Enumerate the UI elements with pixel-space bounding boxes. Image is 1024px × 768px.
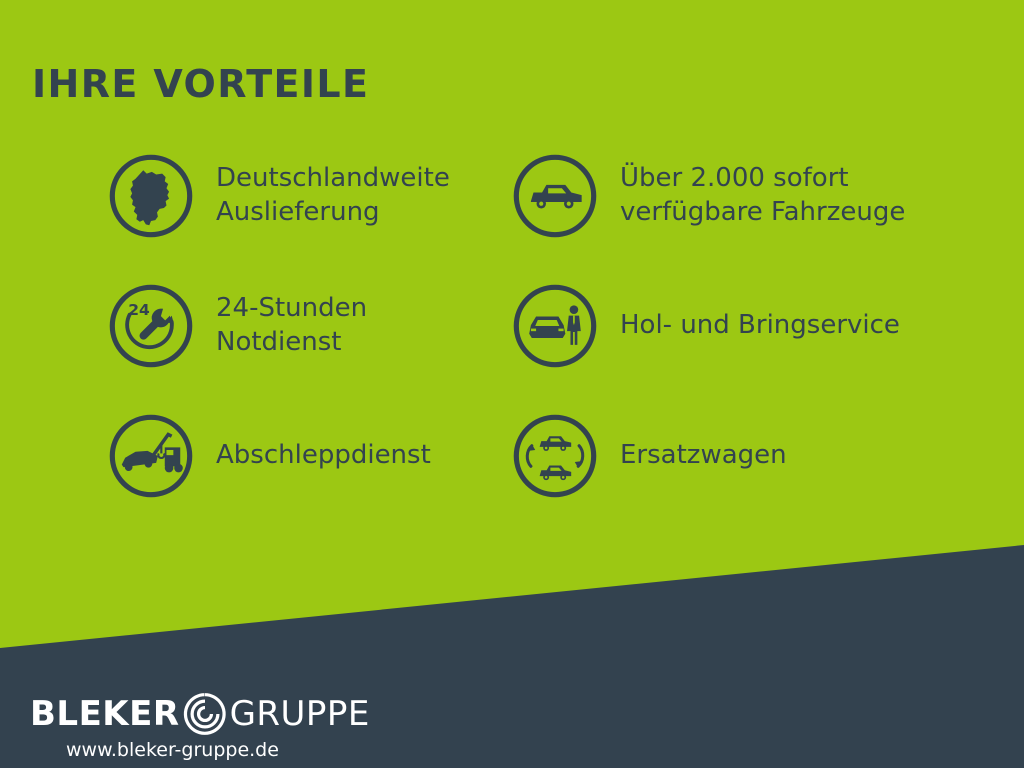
feature-item: Hol- und Bringservice xyxy=(512,280,900,372)
brand-logo: BLEKER GRUPPE xyxy=(30,692,370,736)
24-hours-wrench-icon: 24 xyxy=(108,283,194,369)
feature-item: 24 24-Stunden Notdienst xyxy=(108,280,367,372)
logo-word-gruppe: GRUPPE xyxy=(230,694,370,734)
feature-item: Abschleppdienst xyxy=(108,410,431,502)
logo-word-bleker: BLEKER xyxy=(30,694,180,734)
car-with-driver-icon xyxy=(512,283,598,369)
car-exchange-icon xyxy=(512,413,598,499)
icon-text-24: 24 xyxy=(128,301,150,319)
spiral-logo-icon xyxy=(182,691,228,737)
feature-label: 24-Stunden Notdienst xyxy=(216,292,367,360)
feature-item: Ersatzwagen xyxy=(512,410,787,502)
website-url[interactable]: www.bleker-gruppe.de xyxy=(66,739,279,761)
feature-label: Ersatzwagen xyxy=(620,439,787,473)
feature-label: Deutschlandweite Auslieferung xyxy=(216,162,450,230)
feature-label: Abschleppdienst xyxy=(216,439,431,473)
feature-item: Deutschlandweite Auslieferung xyxy=(108,150,450,242)
germany-map-icon xyxy=(108,153,194,239)
feature-label: Hol- und Bringservice xyxy=(620,309,900,343)
tow-truck-icon xyxy=(108,413,194,499)
page-title: IHRE VORTEILE xyxy=(32,62,369,106)
car-side-icon xyxy=(512,153,598,239)
feature-label: Über 2.000 sofort verfügbare Fahrzeuge xyxy=(620,162,905,230)
feature-item: Über 2.000 sofort verfügbare Fahrzeuge xyxy=(512,150,905,242)
slide-canvas: IHRE VORTEILE Deutschlandweite Ausliefer… xyxy=(0,0,1024,768)
